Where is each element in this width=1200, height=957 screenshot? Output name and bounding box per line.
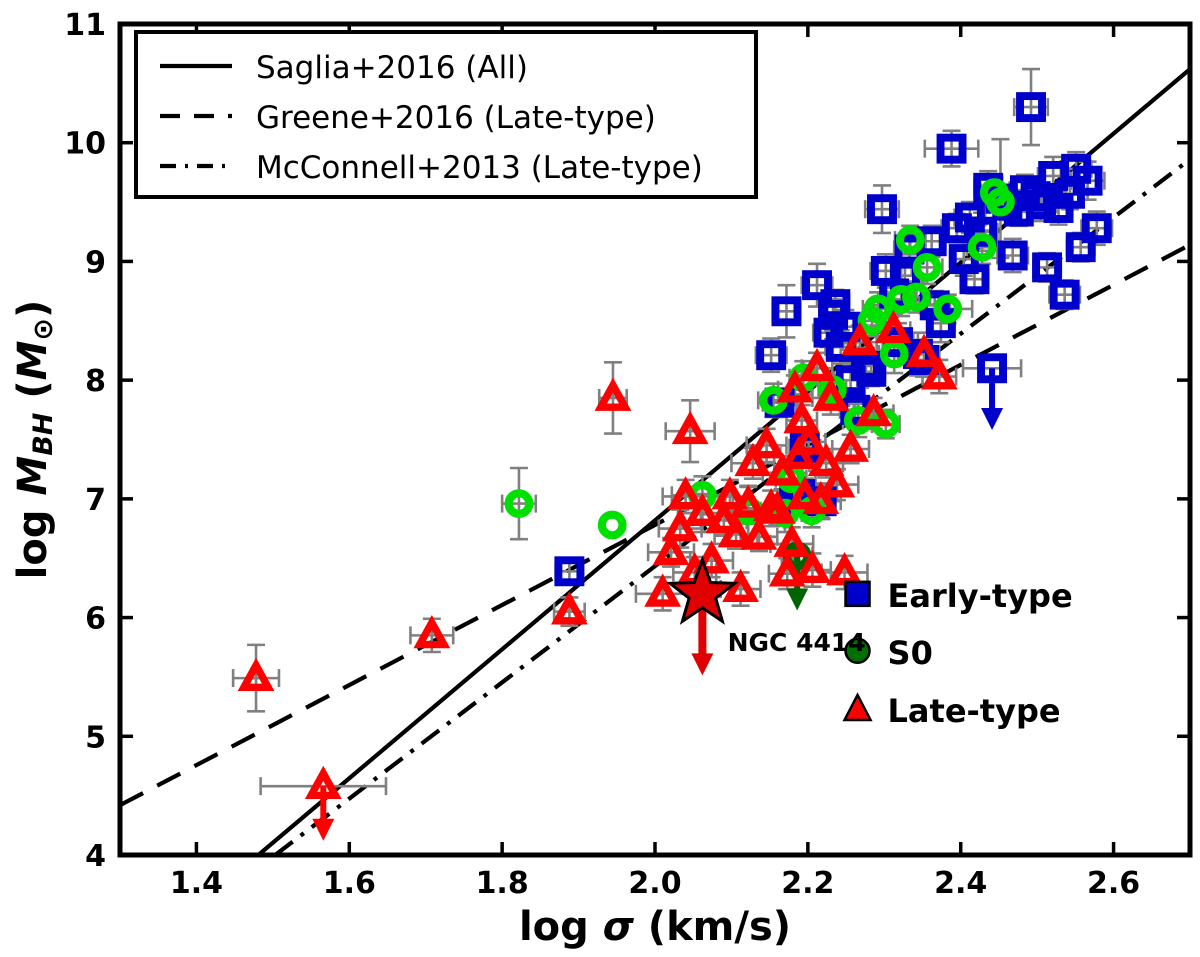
inline-legend-label-early-type: Early-type bbox=[888, 577, 1073, 615]
y-tick-label: 4 bbox=[85, 839, 106, 874]
y-tick-label: 6 bbox=[85, 602, 106, 637]
inline-legend-label-s0: S0 bbox=[888, 634, 933, 672]
x-tick-label: 2.0 bbox=[628, 866, 681, 901]
y-tick-label: 8 bbox=[85, 364, 106, 399]
legend-line-label-1: Saglia+2016 (All) bbox=[256, 50, 528, 86]
x-tick-label: 2.6 bbox=[1087, 866, 1140, 901]
legend-line-label-3: McConnell+2013 (Late-type) bbox=[256, 150, 703, 186]
x-axis-label: log σ (km/s) bbox=[519, 904, 791, 950]
scatter-plot: 1.41.61.82.02.22.42.64567891011log σ (km… bbox=[0, 0, 1200, 957]
legend-line-label-2: Greene+2016 (Late-type) bbox=[256, 100, 656, 136]
x-tick-label: 1.8 bbox=[476, 866, 529, 901]
x-tick-label: 1.6 bbox=[323, 866, 376, 901]
inline-legend-label-late-type: Late-type bbox=[888, 692, 1061, 730]
y-tick-label: 11 bbox=[64, 8, 106, 43]
legend-box: Saglia+2016 (All)Greene+2016 (Late-type)… bbox=[136, 32, 756, 197]
y-tick-label: 7 bbox=[85, 483, 106, 518]
annotation-1: NGC 4414 bbox=[728, 628, 866, 657]
y-tick-label: 5 bbox=[85, 720, 106, 755]
y-tick-label: 9 bbox=[85, 245, 106, 280]
y-tick-label: 10 bbox=[64, 127, 106, 162]
y-axis-label: log MBH (M⊙) bbox=[10, 300, 59, 580]
x-tick-label: 2.2 bbox=[781, 866, 834, 901]
figure-container: 1.41.61.82.02.22.42.64567891011log σ (km… bbox=[0, 0, 1200, 957]
x-tick-label: 1.4 bbox=[170, 866, 223, 901]
inline-legend-marker-early-type bbox=[846, 582, 870, 606]
x-tick-label: 2.4 bbox=[934, 866, 987, 901]
